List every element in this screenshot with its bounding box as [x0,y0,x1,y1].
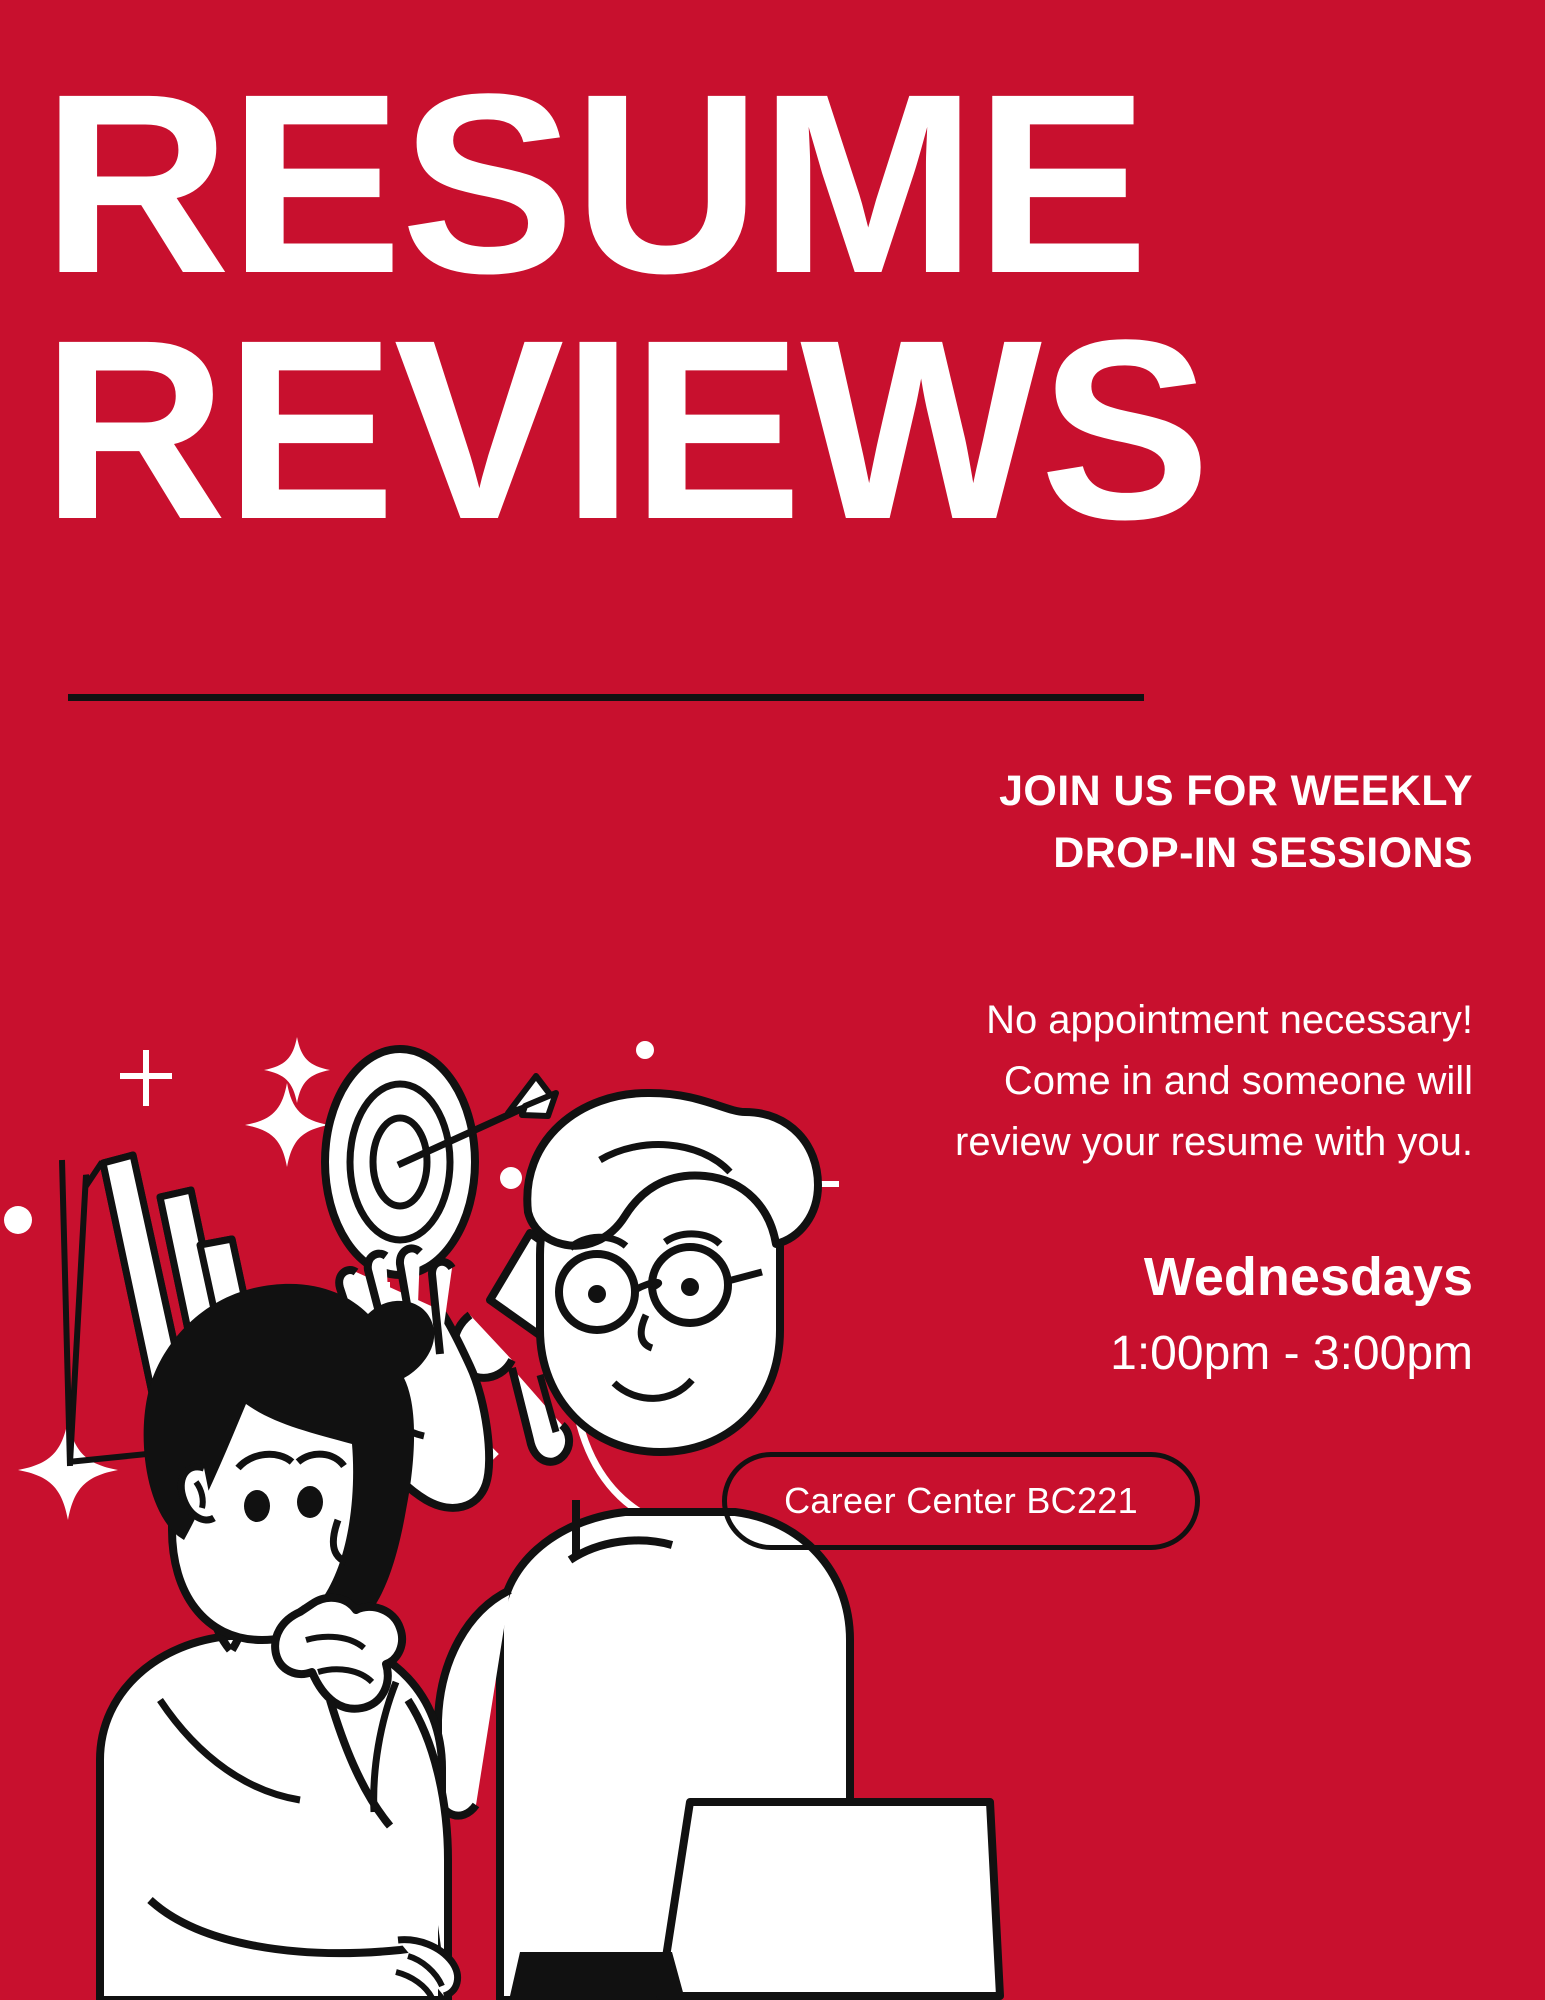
chart-axis-line [70,1162,102,1463]
plus-icon [120,1050,172,1106]
plus-icon [791,1160,839,1208]
sparkle-icon [264,1037,330,1103]
headline-line-1: RESUME [42,62,1215,308]
sparkle-icon [245,1083,329,1167]
subheading-line-2: DROP-IN SESSIONS [833,822,1473,884]
decor-group [4,1037,839,1520]
person-thinking-illustration [100,1284,458,2000]
description-line-1: No appointment necessary! [853,990,1473,1051]
swoosh-curve [573,1388,640,1512]
chart-axis-line [62,1160,70,1466]
page-title: RESUME REVIEWS [42,62,1192,554]
description-line-2: Come in and someone will [853,1051,1473,1112]
description-line-3: review your resume with you. [853,1112,1473,1173]
location-label: Career Center BC221 [784,1480,1138,1522]
sparkle-icon [18,1420,118,1520]
poster-canvas: RESUME REVIEWS JOIN US FOR WEEKLY DROP-I… [0,0,1545,2000]
megaphone-icon [454,1179,691,1462]
diamond-icon [459,1434,499,1474]
dot-icon [210,1393,242,1425]
dot-icon [743,1288,777,1322]
schedule-day: Wednesdays [853,1245,1473,1310]
bar-chart-icon [103,1155,275,1468]
headline-line-2: REVIEWS [42,308,1192,554]
dot-icon [500,1167,522,1189]
dot-icon [636,1041,654,1059]
sparkle-icon [667,1152,751,1236]
subheading: JOIN US FOR WEEKLY DROP-IN SESSIONS [833,760,1473,885]
title-divider-rule [68,694,1144,701]
plus-icon [362,1282,412,1332]
schedule-time: 1:00pm - 3:00pm [853,1325,1473,1383]
description-text: No appointment necessary! Come in and so… [853,990,1473,1172]
chart-baseline [68,1440,286,1462]
dot-icon [4,1206,32,1234]
laptop-illustration [510,1802,1000,1996]
subheading-line-1: JOIN US FOR WEEKLY [833,760,1473,822]
target-with-arrow-icon [325,1049,556,1275]
location-badge[interactable]: Career Center BC221 [722,1452,1200,1550]
